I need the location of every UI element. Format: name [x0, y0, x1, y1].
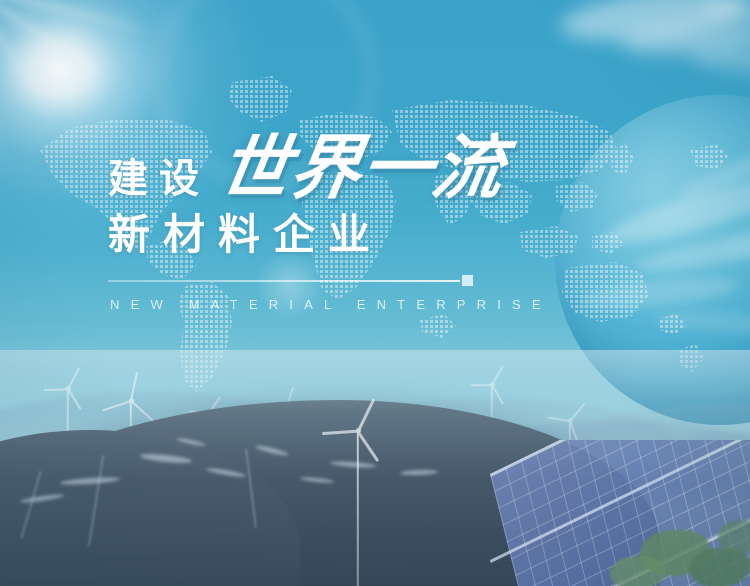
- headline-subtitle: NEW MATERIAL ENTERPRISE: [110, 298, 552, 311]
- headline-kicker: 建设: [108, 159, 210, 199]
- headline-line-1: 建设 世界一流: [108, 133, 504, 203]
- foliage: [718, 520, 750, 554]
- headline-hero: 世界一流: [214, 133, 509, 203]
- hero-banner: 建设 世界一流 新材料企业 NEW MATERIAL ENTERPRISE: [0, 0, 750, 586]
- headline-line-2: 新材料企业: [108, 214, 383, 256]
- divider-end-cap: [462, 275, 473, 286]
- divider-line: [108, 280, 460, 282]
- foliage: [610, 556, 666, 586]
- wind-turbine: [330, 430, 386, 586]
